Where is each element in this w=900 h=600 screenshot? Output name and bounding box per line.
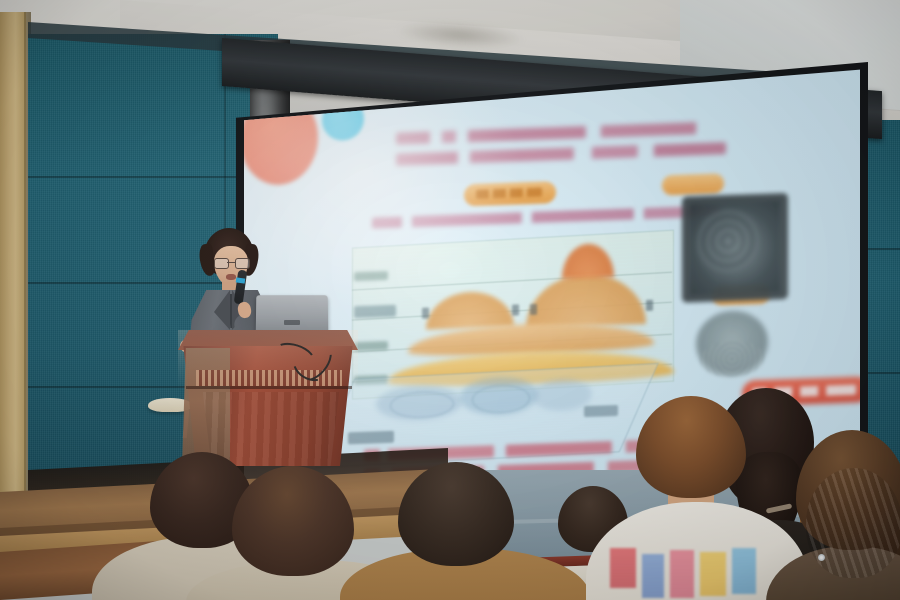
microphone-indicator-band <box>236 277 246 283</box>
eyeglass-lens-right <box>235 258 250 269</box>
axis-letter-j <box>530 304 537 315</box>
slide-title-line-2 <box>396 142 726 166</box>
eyeglass-bridge <box>227 262 235 263</box>
laptop-logo <box>284 320 300 325</box>
axis-letter-k <box>646 300 653 311</box>
slide-title-line-1 <box>396 121 726 145</box>
tshirt-graphic-print <box>610 548 770 600</box>
elevation-label <box>354 271 388 281</box>
slide-title-block <box>396 121 726 175</box>
plane-label-horizontal-plane <box>348 431 394 445</box>
lecture-photograph <box>0 0 900 600</box>
elevation-label <box>354 341 388 351</box>
podium-shadow-line <box>186 386 352 389</box>
plane-label-100m <box>584 405 618 417</box>
axis-letter-h <box>422 308 429 319</box>
audience-member-far-right-hair-strands <box>806 468 900 578</box>
wood-trim-pillar <box>0 12 26 532</box>
circular-contour-map-rings <box>700 340 764 378</box>
eyeglass-lens-left <box>214 258 229 269</box>
eyeglasses-icon <box>214 258 249 267</box>
elevation-label-100m <box>354 305 396 318</box>
presenter-mouth <box>226 274 236 280</box>
axis-letter-i <box>512 304 519 315</box>
laptop <box>256 295 329 335</box>
earring <box>818 554 825 561</box>
slide-subtitle-line <box>372 205 720 228</box>
slide-pill-label-side <box>662 173 724 195</box>
podium-wood-grain <box>200 392 342 466</box>
